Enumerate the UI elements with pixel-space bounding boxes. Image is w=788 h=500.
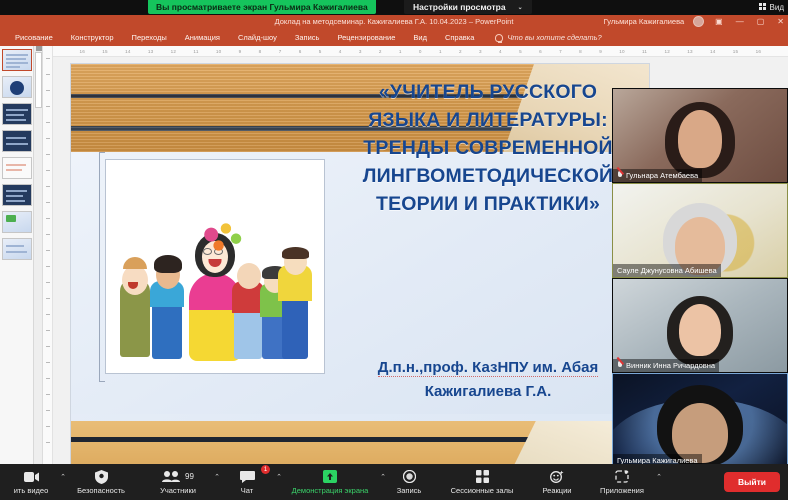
ruler-tick: 11 — [642, 49, 647, 54]
security-label: Безопасность — [77, 486, 125, 495]
slide-thumbnail[interactable] — [2, 49, 32, 71]
ruler-tick: 15 — [733, 49, 739, 54]
ruler-tick: 5 — [519, 49, 522, 54]
ruler-tick: 16 — [80, 49, 86, 54]
ruler-tick: 5 — [319, 49, 322, 54]
zoom-meeting-toolbar: ить видео ⌃ Безопасность 99 Участники ⌃ … — [0, 464, 788, 500]
title-bar-right-controls: Гульмира Кажигалиева ▣ — ▢ ✕ — [604, 13, 786, 29]
chat-unread-badge: 1 — [261, 465, 270, 474]
reactions-label: Реакции — [543, 486, 572, 495]
ruler-tick: 10 — [619, 49, 625, 54]
ruler-tick: 8 — [259, 49, 262, 54]
scrollbar-thumb[interactable] — [35, 52, 42, 108]
ribbon-display-options-button[interactable]: ▣ — [713, 17, 725, 26]
chat-button[interactable]: 1 Чат ⌃ — [216, 464, 278, 500]
tab-transitions[interactable]: Переходы — [123, 31, 176, 44]
participants-button[interactable]: 99 Участники ⌃ — [140, 464, 216, 500]
participants-label: Участники — [160, 486, 196, 495]
ruler-tick: 3 — [479, 49, 482, 54]
tab-help[interactable]: Справка — [436, 31, 483, 44]
horizontal-ruler: 16 15 14 13 12 11 10 9 8 7 6 5 4 3 2 1 0… — [53, 46, 788, 57]
shield-icon — [95, 470, 108, 484]
slide-title-line: «УЧИТЕЛЬ РУССКОГО — [329, 78, 647, 106]
video-tile[interactable]: Гульмира Кажигалиева — [612, 373, 788, 468]
ruler-tick: 15 — [102, 49, 108, 54]
ruler-tick: 9 — [599, 49, 602, 54]
participant-name: Винник Инна Ричардовна — [626, 361, 715, 370]
slide-thumbnail[interactable] — [2, 211, 32, 233]
tell-me-search[interactable]: Что вы хотите сделать? — [495, 33, 601, 42]
apps-button[interactable]: Приложения ⌃ — [586, 464, 658, 500]
chevron-down-icon: ⌄ — [518, 4, 523, 11]
ruler-tick: 13 — [148, 49, 154, 54]
lightbulb-icon — [495, 34, 503, 42]
thumbnail-scrollbar[interactable] — [34, 46, 43, 466]
slide-title-line: ЯЗЫКА И ЛИТЕРАТУРЫ: — [329, 106, 647, 134]
breakout-rooms-icon — [476, 470, 489, 484]
ruler-tick: 14 — [710, 49, 716, 54]
leave-meeting-button[interactable]: Выйти — [724, 472, 780, 492]
ruler-tick: 9 — [239, 49, 242, 54]
vertical-ruler — [43, 46, 53, 466]
chevron-up-icon[interactable]: ⌃ — [656, 473, 662, 481]
participants-icon: 99 — [162, 470, 194, 484]
zoom-screen-share-view: Вы просматриваете экран Гульмира Кажигал… — [0, 0, 788, 500]
view-settings-button[interactable]: Настройки просмотра ⌄ — [404, 0, 532, 14]
screen-share-notice: Вы просматриваете экран Гульмира Кажигал… — [148, 0, 376, 14]
tab-review[interactable]: Рецензирование — [328, 31, 404, 44]
tab-view[interactable]: Вид — [404, 31, 436, 44]
ruler-tick: 6 — [299, 49, 302, 54]
tab-designer[interactable]: Конструктор — [62, 31, 123, 44]
slide-thumbnail[interactable] — [2, 103, 32, 125]
slide-author-line-2: Кажигалиева Г.А. — [329, 380, 647, 404]
slide-thumbnail[interactable] — [2, 130, 32, 152]
ruler-tick: 1 — [439, 49, 442, 54]
participant-name: Сауле Джунусовна Абишева — [617, 266, 717, 275]
slide-illustration[interactable] — [105, 159, 325, 374]
ruler-tick: 13 — [687, 49, 693, 54]
stop-video-button[interactable]: ить видео ⌃ — [0, 464, 62, 500]
ribbon-tab-bar: Рисование Конструктор Переходы Анимация … — [0, 29, 788, 46]
slide-thumbnail-panel[interactable] — [0, 46, 34, 466]
slide-title[interactable]: «УЧИТЕЛЬ РУССКОГО ЯЗЫКА И ЛИТЕРАТУРЫ: ТР… — [329, 78, 647, 218]
minimize-button[interactable]: — — [734, 17, 746, 26]
ruler-tick: 16 — [756, 49, 762, 54]
participant-face — [678, 110, 722, 168]
share-screen-label: Демонстрация экрана — [292, 486, 369, 495]
ruler-tick: 12 — [171, 49, 177, 54]
ruler-tick: 3 — [359, 49, 362, 54]
restore-button[interactable]: ▢ — [755, 17, 767, 26]
record-button[interactable]: Запись — [382, 464, 436, 500]
tab-slideshow[interactable]: Слайд-шоу — [229, 31, 286, 44]
slide-title-line: ЛИНГВОМЕТОДИЧЕСКОЙ — [329, 162, 647, 190]
ruler-tick: 2 — [379, 49, 382, 54]
account-name: Гульмира Кажигалиева — [604, 17, 685, 26]
ruler-tick: 7 — [559, 49, 562, 54]
view-mode-button[interactable]: Вид — [759, 0, 784, 14]
mic-muted-icon — [617, 171, 623, 180]
slide-thumbnail[interactable] — [2, 76, 32, 98]
slide-author-block[interactable]: Д.п.н.,проф. КазНПУ им. Абая Кажигалиева… — [329, 356, 647, 404]
breakout-rooms-label: Сессионные залы — [451, 486, 514, 495]
apps-icon — [615, 470, 629, 484]
document-title: Доклад на методсеминар. Кажигалиева Г.А.… — [275, 17, 514, 26]
video-tile[interactable]: Винник Инна Ричардовна — [612, 278, 788, 373]
participants-count: 99 — [185, 472, 194, 481]
video-tile-name: Сауле Джунусовна Абишева — [613, 264, 721, 277]
slide-author-line-1: Д.п.н.,проф. КазНПУ им. Абая — [378, 359, 598, 377]
ruler-tick: 8 — [579, 49, 582, 54]
screen-share-notice-label: Вы просматриваете экран Гульмира Кажигал… — [156, 2, 368, 12]
video-tile[interactable]: Сауле Джунусовна Абишева — [612, 183, 788, 278]
current-slide[interactable]: «УЧИТЕЛЬ РУССКОГО ЯЗЫКА И ЛИТЕРАТУРЫ: ТР… — [70, 63, 650, 500]
ruler-tick: 12 — [664, 49, 670, 54]
video-tile-strip: Гульнара Атембаева Сауле Джунусовна Абиш… — [612, 88, 788, 466]
share-screen-button[interactable]: Демонстрация экрана ⌃ — [278, 464, 382, 500]
chat-icon — [240, 470, 255, 484]
close-button[interactable]: ✕ — [775, 17, 786, 26]
record-label: Запись — [397, 486, 422, 495]
ruler-tick-zero: 0 — [419, 49, 422, 54]
tab-animation[interactable]: Анимация — [176, 31, 229, 44]
ruler-tick: 11 — [193, 49, 198, 54]
participant-name: Гульнара Атембаева — [626, 171, 698, 180]
tab-drawing[interactable]: Рисование — [6, 31, 62, 44]
stop-video-label: ить видео — [14, 486, 49, 495]
record-icon — [403, 470, 416, 484]
ruler-tick: 4 — [499, 49, 502, 54]
ruler-tick: 6 — [539, 49, 542, 54]
grid-view-icon — [759, 3, 767, 11]
ruler-tick: 1 — [399, 49, 402, 54]
slide-title-line: ТЕОРИИ И ПРАКТИКИ» — [329, 190, 647, 218]
ruler-tick: 2 — [459, 49, 462, 54]
slide-thumbnail[interactable] — [2, 238, 32, 260]
ruler-tick: 10 — [216, 49, 222, 54]
camera-icon — [24, 470, 39, 484]
scrollbar-up-arrow[interactable] — [36, 46, 42, 51]
chat-label: Чат — [241, 486, 253, 495]
mic-muted-icon — [617, 361, 623, 370]
ruler-tick: 7 — [279, 49, 282, 54]
breakout-rooms-button[interactable]: Сессионные залы — [436, 464, 528, 500]
apps-label: Приложения — [600, 486, 644, 495]
slide-title-line: ТРЕНДЫ СОВРЕМЕННОЙ — [329, 134, 647, 162]
slide-thumbnail[interactable] — [2, 157, 32, 179]
avatar[interactable] — [693, 16, 704, 27]
share-screen-icon — [323, 470, 337, 484]
view-settings-label: Настройки просмотра — [413, 2, 506, 12]
video-tile-name: Гульнара Атембаева — [613, 169, 702, 182]
reactions-icon — [550, 470, 564, 484]
video-tile[interactable]: Гульнара Атембаева — [612, 88, 788, 183]
video-tile-name: Винник Инна Ричардовна — [613, 359, 719, 372]
zoom-top-banner: Вы просматриваете экран Гульмира Кажигал… — [0, 0, 788, 15]
slide-thumbnail[interactable] — [2, 184, 32, 206]
view-mode-label: Вид — [770, 3, 784, 12]
ruler-tick: 14 — [125, 49, 131, 54]
tell-me-label: Что вы хотите сделать? — [507, 33, 601, 42]
participant-face — [679, 304, 721, 356]
security-button[interactable]: Безопасность — [62, 464, 140, 500]
ruler-tick: 4 — [339, 49, 342, 54]
tab-record[interactable]: Запись — [286, 31, 329, 44]
reactions-button[interactable]: Реакции — [528, 464, 586, 500]
